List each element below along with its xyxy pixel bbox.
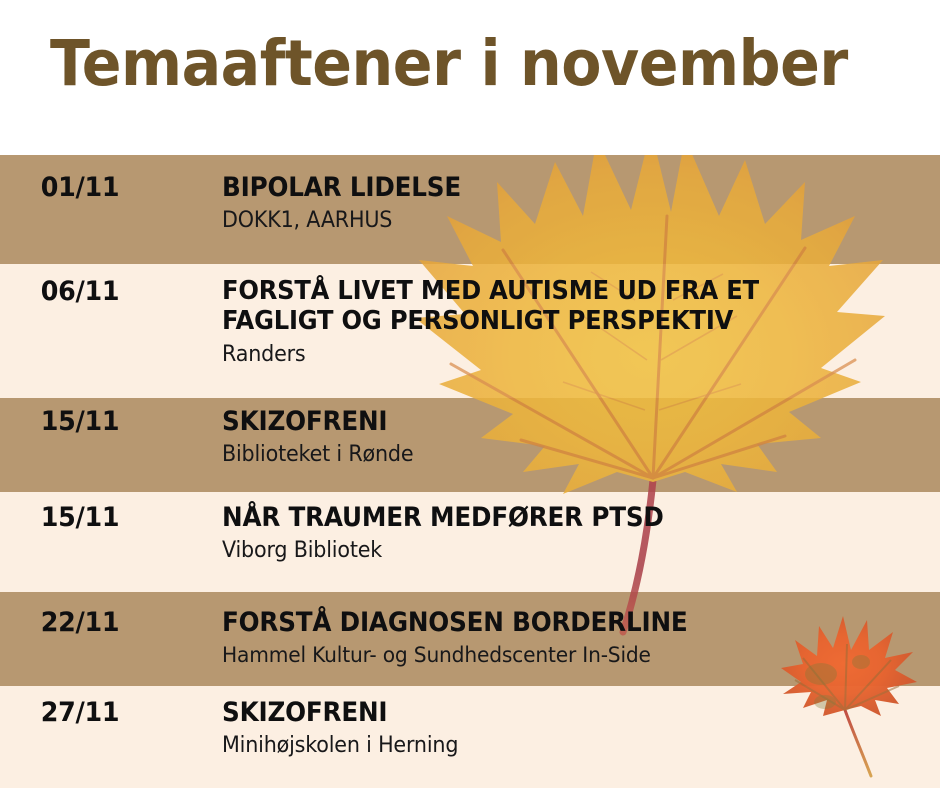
band-row-6 [0,686,940,788]
band-row-5 [0,592,940,686]
band-row-2 [0,264,940,398]
title-area: Temaaftener i november [0,0,940,155]
page-title: Temaaftener i november [50,27,848,100]
band-row-1 [0,155,940,264]
band-row-4 [0,492,940,592]
poster-canvas: Temaaftener i november 01/11 BIPOLAR LID… [0,0,940,788]
band-row-3 [0,398,940,492]
